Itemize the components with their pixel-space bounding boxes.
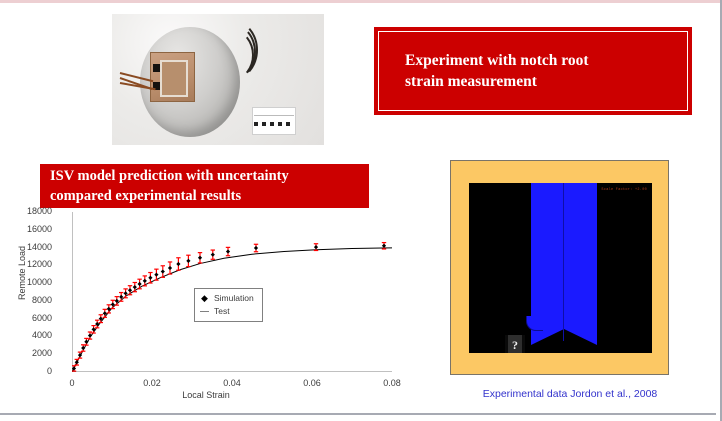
line-marker-icon	[200, 311, 209, 312]
missing-media-icon: ?	[505, 335, 525, 353]
chart-y-tick-label: 14000	[6, 242, 52, 252]
scale-card-bar	[254, 122, 294, 126]
chart-legend: ◆ Simulation Test	[194, 288, 263, 322]
chart-y-tick-label: 0	[6, 366, 52, 376]
chart-simulation-marker	[88, 333, 92, 337]
chart-x-tick-label: 0.08	[372, 378, 412, 388]
slide-canvas: Experiment with notch root strain measur…	[0, 0, 722, 421]
diamond-marker-icon: ◆	[200, 292, 209, 305]
banner-experiment-inner: Experiment with notch root strain measur…	[378, 31, 688, 111]
chart-simulation-marker	[198, 256, 202, 260]
chart-simulation-marker	[226, 249, 230, 253]
chart-y-tick-label: 12000	[6, 259, 52, 269]
chart-x-tick-label: 0.06	[292, 378, 332, 388]
fe-simulation-frame: Scale Factor: +2.00 ?	[450, 160, 669, 375]
legend-label-simulation: Simulation	[214, 292, 254, 305]
banner-isv-line2: compared experimental results	[50, 186, 369, 206]
chart-y-tick-label: 18000	[6, 206, 52, 216]
chart-simulation-marker	[186, 259, 190, 263]
scale-card-row	[254, 109, 294, 116]
chart-simulation-marker	[168, 266, 172, 270]
chart-simulation-marker	[143, 279, 147, 283]
banner-isv-inner: ISV model prediction with uncertainty co…	[40, 164, 369, 208]
chart-simulation-marker	[161, 269, 165, 273]
banner-experiment: Experiment with notch root strain measur…	[374, 27, 692, 115]
legend-entry-simulation: ◆ Simulation	[200, 292, 254, 305]
chart-x-tick-label: 0	[52, 378, 92, 388]
scale-reference-card	[252, 107, 296, 135]
bottom-divider	[0, 413, 716, 415]
chart-y-tick-label: 6000	[6, 313, 52, 323]
chart-y-axis-label: Remote Load	[17, 225, 27, 321]
chart-simulation-marker	[254, 246, 258, 250]
chart-simulation-marker	[148, 276, 152, 280]
chart-y-tick-label: 16000	[6, 224, 52, 234]
chart-y-tick-label: 10000	[6, 277, 52, 287]
legend-label-test: Test	[214, 305, 230, 318]
fe-source-caption: Experimental data Jordon et al., 2008	[450, 388, 690, 400]
chart-x-tick-label: 0.04	[212, 378, 252, 388]
banner-experiment-line2: strain measurement	[405, 71, 687, 92]
specimen-photograph	[112, 14, 324, 145]
chart-simulation-marker	[176, 262, 180, 266]
fe-notch-region	[526, 316, 543, 331]
chart-simulation-marker	[128, 288, 132, 292]
chart-y-tick-label: 4000	[6, 330, 52, 340]
chart-x-tick-label: 0.02	[132, 378, 172, 388]
legend-entry-test: Test	[200, 305, 254, 318]
banner-isv-model: ISV model prediction with uncertainty co…	[40, 164, 369, 208]
fe-specimen-body	[531, 183, 597, 329]
chart-simulation-marker	[154, 273, 158, 277]
chart-x-axis-label: Local Strain	[6, 390, 406, 400]
chart-simulation-marker	[382, 244, 386, 248]
banner-isv-line1: ISV model prediction with uncertainty	[50, 166, 369, 186]
fe-specimen-seam	[563, 183, 564, 341]
chart-y-tick-label: 2000	[6, 348, 52, 358]
solder-pad	[153, 64, 160, 72]
chart-simulation-marker	[138, 282, 142, 286]
fe-simulation-canvas: Scale Factor: +2.00 ?	[469, 183, 652, 353]
chart-y-tick-label: 8000	[6, 295, 52, 305]
load-strain-chart: Remote Load Local Strain 020004000600080…	[6, 208, 406, 404]
chart-simulation-marker	[211, 253, 215, 257]
chart-simulation-marker	[133, 285, 137, 289]
chart-simulation-marker	[75, 360, 79, 364]
banner-experiment-line1: Experiment with notch root	[405, 50, 687, 71]
fe-scale-factor-text: Scale Factor: +2.00	[601, 188, 647, 192]
chart-simulation-marker	[314, 245, 318, 249]
strain-gauge	[150, 52, 195, 102]
top-divider	[0, 0, 722, 3]
